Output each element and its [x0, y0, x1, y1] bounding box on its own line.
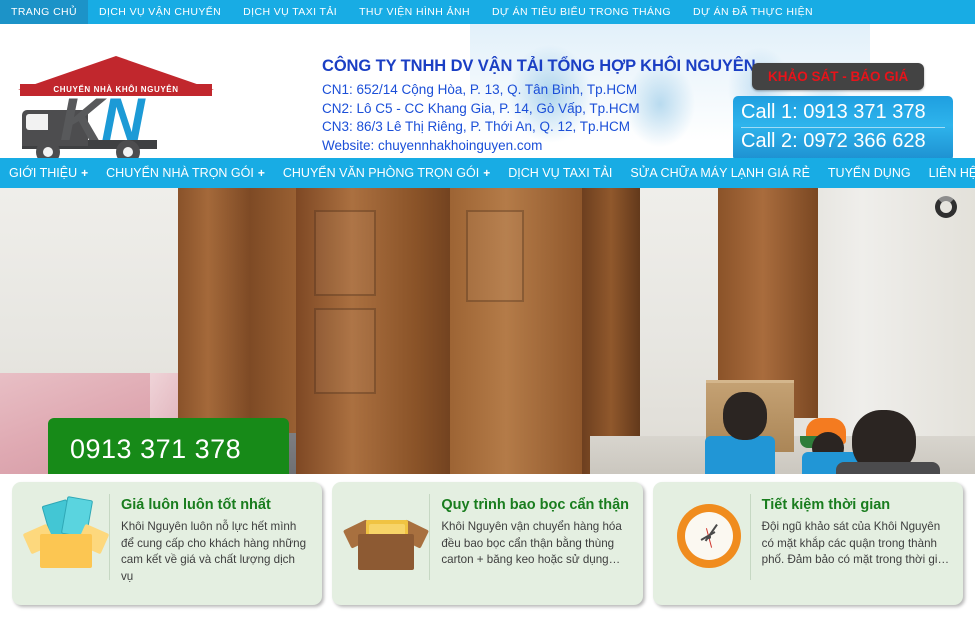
feature-card-text: Giá luôn luôn tốt nhất Khôi Nguyên luôn …: [121, 494, 310, 585]
logo-letter-n: N: [101, 86, 142, 153]
feature-card-careful-packing[interactable]: Quy trình bao bọc cẩn thận Khôi Nguyên v…: [332, 482, 642, 605]
slider-loading-ring-icon[interactable]: [935, 196, 957, 218]
chevron-plus-icon: +: [81, 166, 88, 180]
feature-card-text: Tiết kiệm thời gian Đội ngũ khảo sát của…: [762, 494, 951, 569]
hero-slider[interactable]: 0913 371 378 0972 366 628 Mr Đồng: [0, 188, 975, 474]
door-frame: [582, 188, 640, 474]
nav-item-label: CHUYỂN VĂN PHÒNG TRỌN GÓI: [283, 166, 479, 180]
site-header: CHUYỂN NHÀ KHÔI NGUYÊN KN CÔNG TY TNHH D…: [0, 24, 975, 158]
hotline-call-box: Call 1: 0913 371 378 Call 2: 0972 366 62…: [733, 96, 953, 158]
logo-truck-window: [26, 114, 48, 130]
feature-card-description: Khôi Nguyên luôn nỗ lực hết mình để cung…: [121, 519, 310, 585]
nav-item-label: TUYỂN DỤNG: [828, 166, 911, 180]
topbar-item-dich-vu-taxi-tai[interactable]: DỊCH VỤ TAXI TẢI: [232, 0, 348, 24]
money-box-icon: [22, 494, 110, 580]
topbar-item-label: DỊCH VỤ TAXI TẢI: [243, 6, 337, 18]
clock-center-pin: [707, 535, 711, 539]
topbar-item-label: DỰ ÁN TIÊU BIỂU TRONG THÁNG: [492, 6, 671, 18]
topbar-item-du-an-da-thuc-hien[interactable]: DỰ ÁN ĐÃ THỰC HIỆN: [682, 0, 824, 24]
clock-icon: [663, 494, 751, 580]
feature-cards-row: Giá luôn luôn tốt nhất Khôi Nguyên luôn …: [0, 474, 975, 605]
quote-request-badge[interactable]: KHẢO SÁT - BÁO GIÁ: [752, 63, 924, 90]
logo-monogram: KN: [60, 90, 143, 150]
box-body: [358, 534, 414, 570]
wardrobe-panel: [314, 308, 376, 394]
worker-2-head: [723, 392, 767, 440]
hero-phone-overlay[interactable]: 0913 371 378 0972 366 628 Mr Đồng: [48, 418, 289, 474]
feature-card-title: Quy trình bao bọc cẩn thận: [441, 496, 630, 514]
nav-item-label: DỊCH VỤ TAXI TẢI: [508, 166, 612, 180]
nav-item-label: SỬA CHỮA MÁY LẠNH GIÁ RẺ: [630, 166, 810, 180]
chevron-plus-icon: +: [258, 166, 265, 180]
feature-card-description: Đội ngũ khảo sát của Khôi Nguyên có mặt …: [762, 519, 951, 569]
worker-2-shirt: [705, 436, 775, 474]
company-logo[interactable]: CHUYỂN NHÀ KHÔI NGUYÊN KN: [8, 56, 223, 156]
person-4-dark-shirt: [836, 462, 940, 474]
logo-letter-k: K: [60, 86, 101, 153]
carton-box-icon: [342, 494, 430, 580]
box-body: [40, 534, 92, 568]
topbar-item-dich-vu-van-chuyen[interactable]: DỊCH VỤ VẬN CHUYỂN: [88, 0, 232, 24]
feature-card-time-saving[interactable]: Tiết kiệm thời gian Đội ngũ khảo sát của…: [653, 482, 963, 605]
topbar-item-label: THƯ VIỆN HÌNH ẢNH: [359, 6, 470, 18]
nav-item-sua-chua-may-lanh[interactable]: SỬA CHỮA MÁY LẠNH GIÁ RẺ: [621, 158, 819, 188]
hero-phone-2: 0972 366 628: [70, 467, 289, 474]
feature-card-title: Giá luôn luôn tốt nhất: [121, 496, 310, 514]
company-info-block: CÔNG TY TNHH DV VẬN TẢI TỔNG HỢP KHÔI NG…: [322, 57, 756, 155]
feature-card-title: Tiết kiệm thời gian: [762, 496, 951, 514]
topbar-item-du-an-tieu-bieu[interactable]: DỰ ÁN TIÊU BIỂU TRONG THÁNG: [481, 0, 682, 24]
hotline-call-1[interactable]: Call 1: 0913 371 378: [733, 99, 953, 127]
wardrobe-panel: [466, 210, 524, 302]
topbar-item-label: DỊCH VỤ VẬN CHUYỂN: [99, 6, 221, 18]
nav-item-chuyen-nha-tron-goi[interactable]: CHUYỂN NHÀ TRỌN GÓI +: [97, 158, 274, 188]
company-branch-2: CN2: Lô C5 - CC Khang Gia, P. 14, Gò Vấp…: [322, 100, 756, 119]
wardrobe-left: [178, 188, 298, 433]
nav-item-dich-vu-taxi-tai[interactable]: DỊCH VỤ TAXI TẢI: [499, 158, 621, 188]
topbar-item-trang-chu[interactable]: TRANG CHỦ: [0, 0, 88, 24]
main-navigation-bar: GIỚI THIỆU + CHUYỂN NHÀ TRỌN GÓI + CHUYỂ…: [0, 158, 975, 188]
nav-item-tuyen-dung[interactable]: TUYỂN DỤNG: [819, 158, 920, 188]
top-navigation-bar: TRANG CHỦ DỊCH VỤ VẬN CHUYỂN DỊCH VỤ TAX…: [0, 0, 975, 24]
nav-item-lien-he[interactable]: LIÊN HỆ: 0913 371 378: [920, 158, 975, 188]
company-name: CÔNG TY TNHH DV VẬN TẢI TỔNG HỢP KHÔI NG…: [322, 57, 756, 76]
feature-card-best-price[interactable]: Giá luôn luôn tốt nhất Khôi Nguyên luôn …: [12, 482, 322, 605]
company-branch-3: CN3: 86/3 Lê Thị Riêng, P. Thới An, Q. 1…: [322, 118, 756, 137]
nav-item-label: CHUYỂN NHÀ TRỌN GÓI: [106, 166, 254, 180]
feature-card-description: Khôi Nguyên vận chuyển hàng hóa đều bao …: [441, 519, 630, 569]
nav-item-label: LIÊN HỆ: 0913 371 378: [929, 166, 975, 180]
nav-item-label: GIỚI THIỆU: [9, 166, 77, 180]
topbar-item-label: TRANG CHỦ: [11, 6, 77, 18]
company-branch-1: CN1: 652/14 Cộng Hòa, P. 13, Q. Tân Bình…: [322, 81, 756, 100]
wardrobe-panel: [314, 210, 376, 296]
hotline-call-2[interactable]: Call 2: 0972 366 628: [733, 128, 953, 156]
topbar-item-thu-vien-hinh-anh[interactable]: THƯ VIỆN HÌNH ẢNH: [348, 0, 481, 24]
nav-item-gioi-thieu[interactable]: GIỚI THIỆU +: [0, 158, 97, 188]
feature-card-text: Quy trình bao bọc cẩn thận Khôi Nguyên v…: [441, 494, 630, 569]
nav-item-chuyen-van-phong-tron-goi[interactable]: CHUYỂN VĂN PHÒNG TRỌN GÓI +: [274, 158, 499, 188]
chevron-plus-icon: +: [483, 166, 490, 180]
hero-phone-1: 0913 371 378: [70, 432, 289, 467]
topbar-item-label: DỰ ÁN ĐÃ THỰC HIỆN: [693, 6, 813, 18]
logo-truck-wheel-front: [36, 140, 60, 158]
company-website[interactable]: Website: chuyennhakhoinguyen.com: [322, 137, 756, 156]
